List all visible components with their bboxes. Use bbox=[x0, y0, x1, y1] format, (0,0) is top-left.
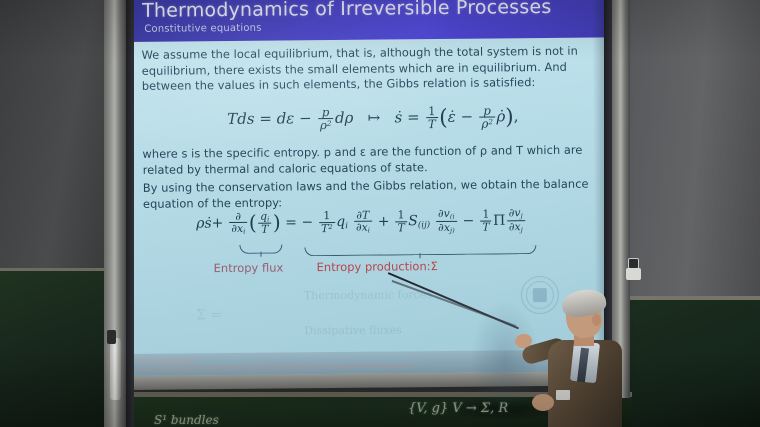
window-frame-left-shadow bbox=[126, 0, 134, 427]
blackboard-left bbox=[0, 268, 112, 427]
eq-minus-2: − bbox=[463, 213, 475, 229]
eq-gibbs-minus-2: − bbox=[460, 108, 473, 126]
lecture-scene: S¹ bundles {V, g} V → Σ, R Thermodynamic… bbox=[0, 0, 760, 427]
eq-gibbs-frac-p-rho2-b: p ρ2 bbox=[479, 104, 495, 130]
eq-S-ij: S(ij) bbox=[408, 213, 430, 229]
eq-gibbs-equals: = bbox=[259, 109, 272, 127]
eq-partial-den: ∂xi bbox=[229, 222, 247, 236]
eq-gibbs-rhodot: ρ̇ bbox=[496, 107, 505, 125]
eq-frac-qi-T: qi T bbox=[258, 210, 271, 236]
eq-partial-T: ∂T bbox=[354, 209, 372, 221]
ghost-sigma-equals: Σ = bbox=[196, 307, 222, 323]
eq-partial-v-j: ∂vj bbox=[507, 207, 525, 220]
ghost-dissipative-fluxes: Dissipative fluxes bbox=[304, 323, 402, 337]
eq-partial-x-j-b: ∂xj bbox=[507, 220, 525, 234]
eq-gibbs-rho-squared-b: ρ2 bbox=[479, 117, 495, 131]
eq-paren-close: ) bbox=[505, 105, 514, 130]
eq-T-den-3: T bbox=[395, 221, 406, 234]
eq-gibbs-sdot: ṡ bbox=[394, 108, 402, 126]
eq-rho-sdot: ρṡ bbox=[196, 216, 212, 232]
underbrace-entropy-production bbox=[304, 245, 536, 256]
speaker-ear bbox=[592, 314, 601, 326]
right-wall bbox=[618, 0, 760, 300]
eq-frac-1-T-b: 1 T bbox=[395, 210, 407, 234]
footer-talk-title: Recent Mathematical Results in Classical… bbox=[137, 362, 414, 373]
eq-minus-1: − bbox=[301, 215, 313, 231]
eq-frac-dv-dx-sym: ∂v(i ∂xj) bbox=[436, 208, 457, 235]
eq-partial-over-dxi: ∂ ∂xi bbox=[229, 210, 247, 236]
eq-gibbs-frac-p-rho2: p ρ2 bbox=[318, 106, 334, 132]
eq-gibbs-equals-2: = bbox=[407, 108, 420, 126]
window-latch-handle[interactable] bbox=[110, 338, 121, 400]
paragraph-local-equilibrium: We assume the local equilibrium, that is… bbox=[141, 43, 597, 94]
eq-partial-num: ∂ bbox=[229, 210, 247, 222]
speaker-figure bbox=[520, 290, 670, 427]
ghost-thermodynamic-forces: Thermodynamic forces bbox=[304, 288, 432, 302]
underbrace-entropy-flux bbox=[239, 245, 282, 254]
eq-paren-close-2: ) bbox=[273, 210, 281, 234]
eq-gibbs-comma: , bbox=[514, 107, 519, 125]
eq-frac-dT-dxi: ∂T ∂xi bbox=[354, 209, 372, 235]
eq-T-den-2: T bbox=[258, 223, 271, 236]
label-entropy-production: Entropy production:Σ bbox=[317, 259, 438, 274]
window-latch-knob[interactable] bbox=[107, 330, 116, 344]
eq-plus: + bbox=[212, 215, 224, 231]
eq-gibbs-p: p bbox=[318, 106, 334, 119]
eq-plus-2: + bbox=[378, 214, 390, 230]
eq-partial-v-i: ∂v(i bbox=[436, 208, 457, 221]
paragraph-specific-entropy: where s is the specific entropy. p and ε… bbox=[142, 142, 598, 177]
eq-T-squared: T2 bbox=[319, 222, 335, 235]
eq-qi-b: qi bbox=[336, 214, 348, 230]
slide-subtitle: Constitutive equations bbox=[144, 23, 261, 35]
eq-gibbs-T: T bbox=[227, 110, 237, 128]
page-title: Thermodynamics of Irreversible Processes bbox=[142, 0, 551, 22]
eq-frac-1-T2: 1 T2 bbox=[319, 210, 335, 234]
chalk-note-left: S¹ bundles bbox=[154, 413, 219, 427]
speaker-name-badge bbox=[556, 390, 570, 400]
eq-T-den-4: T bbox=[480, 220, 491, 233]
label-entropy-flux: Entropy flux bbox=[214, 261, 284, 276]
eq-gibbs-rho-squared: ρ2 bbox=[318, 118, 334, 132]
slide-title-bar: Thermodynamics of Irreversible Processes… bbox=[126, 0, 608, 42]
eq-gibbs-T-den: T bbox=[426, 117, 438, 131]
eq-partial-x-j: ∂xj) bbox=[436, 221, 457, 235]
eq-Pi: Π bbox=[493, 213, 505, 229]
eq-one-a: 1 bbox=[319, 210, 335, 222]
camera-mount bbox=[626, 268, 641, 280]
eq-gibbs-ds: ds bbox=[237, 110, 254, 128]
speaker-hand-lower bbox=[532, 394, 554, 411]
eq-gibbs-frac-1-T: 1 T bbox=[426, 105, 438, 131]
eq-frac-1-T-c: 1 T bbox=[480, 209, 492, 233]
eq-partial-xi: ∂xi bbox=[354, 221, 372, 235]
eq-paren-open-2: ( bbox=[249, 211, 257, 235]
paragraph-balance-equation: By using the conservation laws and the G… bbox=[143, 176, 599, 211]
eq-frac-dvj-dxj: ∂vj ∂xj bbox=[507, 207, 525, 234]
eq-one-c: 1 bbox=[480, 209, 491, 221]
eq-gibbs-drho: dρ bbox=[335, 109, 354, 127]
eq-paren-open: ( bbox=[439, 105, 448, 130]
maps-to-arrow: ↦ bbox=[368, 108, 381, 126]
eq-equals: = bbox=[285, 215, 297, 231]
equation-gibbs-relation: Tds = dε − p ρ2 dρ ↦ ṡ = 1 T (ε̇ − p bbox=[227, 104, 519, 133]
eq-qi: qi bbox=[258, 210, 271, 223]
eq-gibbs-minus: − bbox=[299, 109, 312, 127]
eq-gibbs-epsilondot: ε̇ bbox=[448, 108, 456, 126]
eq-gibbs-one: 1 bbox=[426, 105, 438, 118]
eq-gibbs-depsilon: dε bbox=[277, 109, 295, 127]
eq-gibbs-p-b: p bbox=[479, 104, 495, 117]
equation-entropy-balance: ρṡ+ ∂ ∂xi ( qi T ) = − 1 T2 qi ∂T ∂xi bbox=[196, 207, 526, 237]
eq-one-b: 1 bbox=[395, 210, 406, 222]
